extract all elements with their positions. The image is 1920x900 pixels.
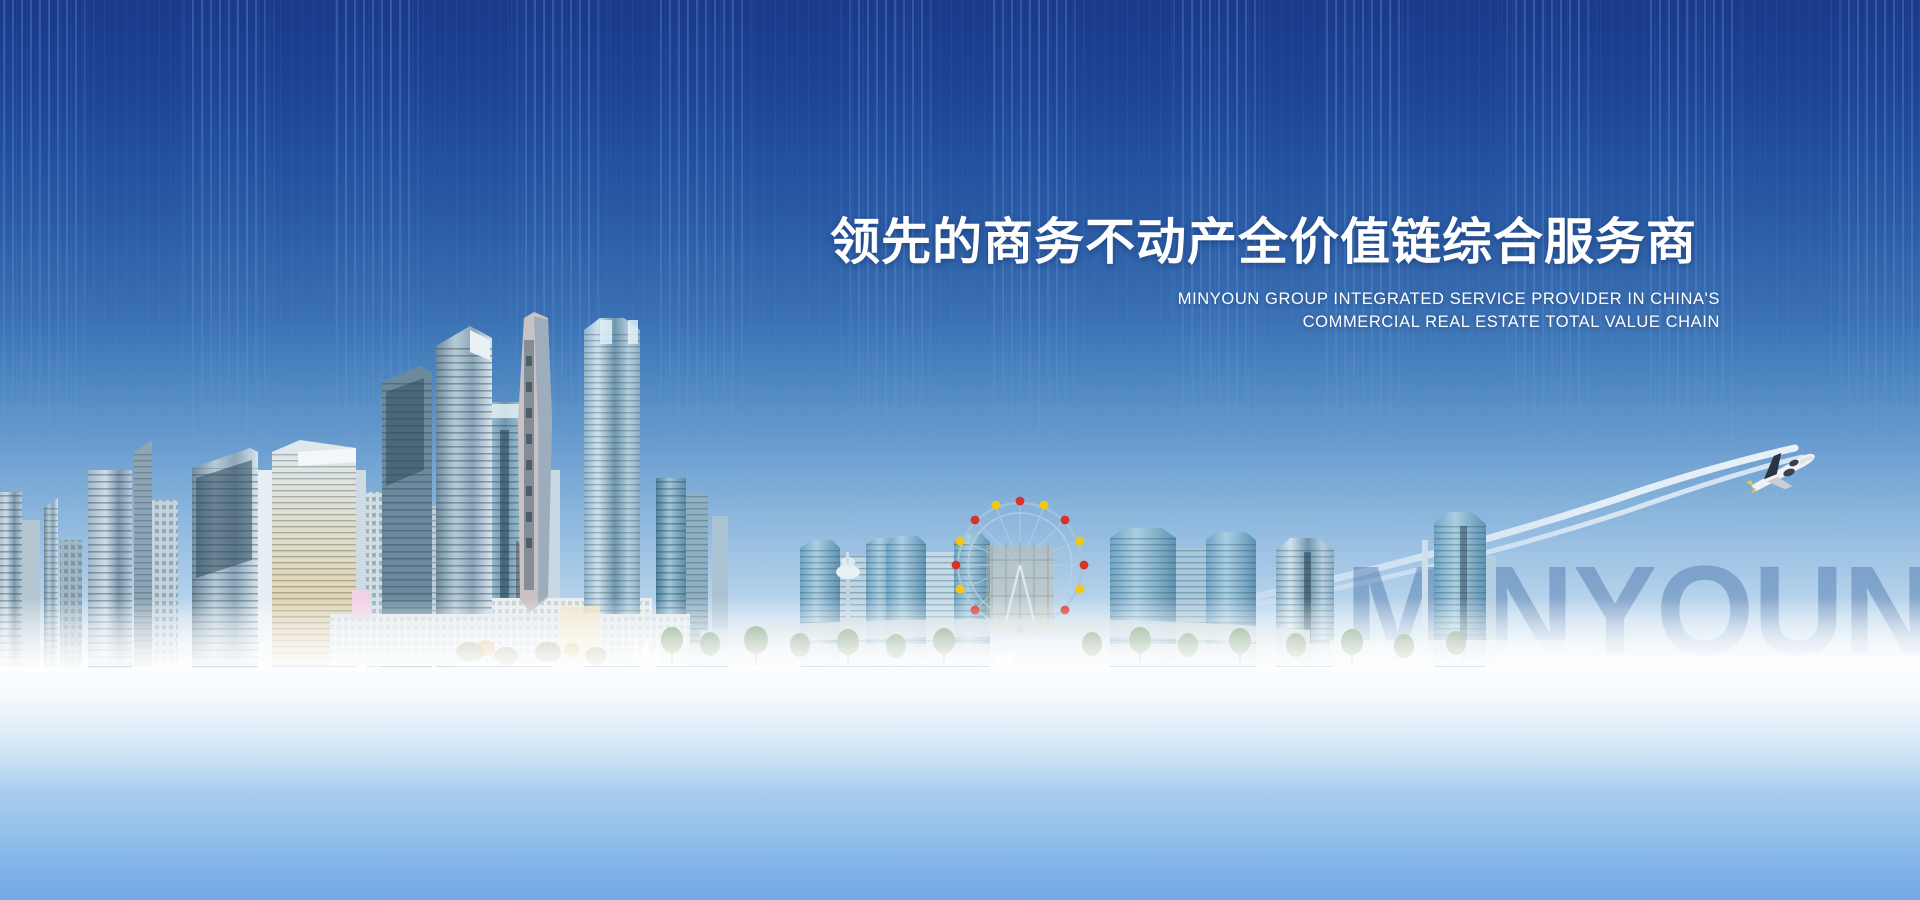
hero-banner: MINYOUN <box>0 0 1920 900</box>
subtitle-block: MINYOUN GROUP INTEGRATED SERVICE PROVIDE… <box>830 288 1720 334</box>
subtitle-line-1: MINYOUN GROUP INTEGRATED SERVICE PROVIDE… <box>830 288 1720 311</box>
water-sheen <box>0 668 1920 788</box>
horizon-line <box>0 667 1920 669</box>
city-skyline <box>0 0 1920 670</box>
page-title: 领先的商务不动产全价值链综合服务商 <box>830 214 1720 270</box>
subtitle-line-2: COMMERCIAL REAL ESTATE TOTAL VALUE CHAIN <box>830 311 1720 334</box>
